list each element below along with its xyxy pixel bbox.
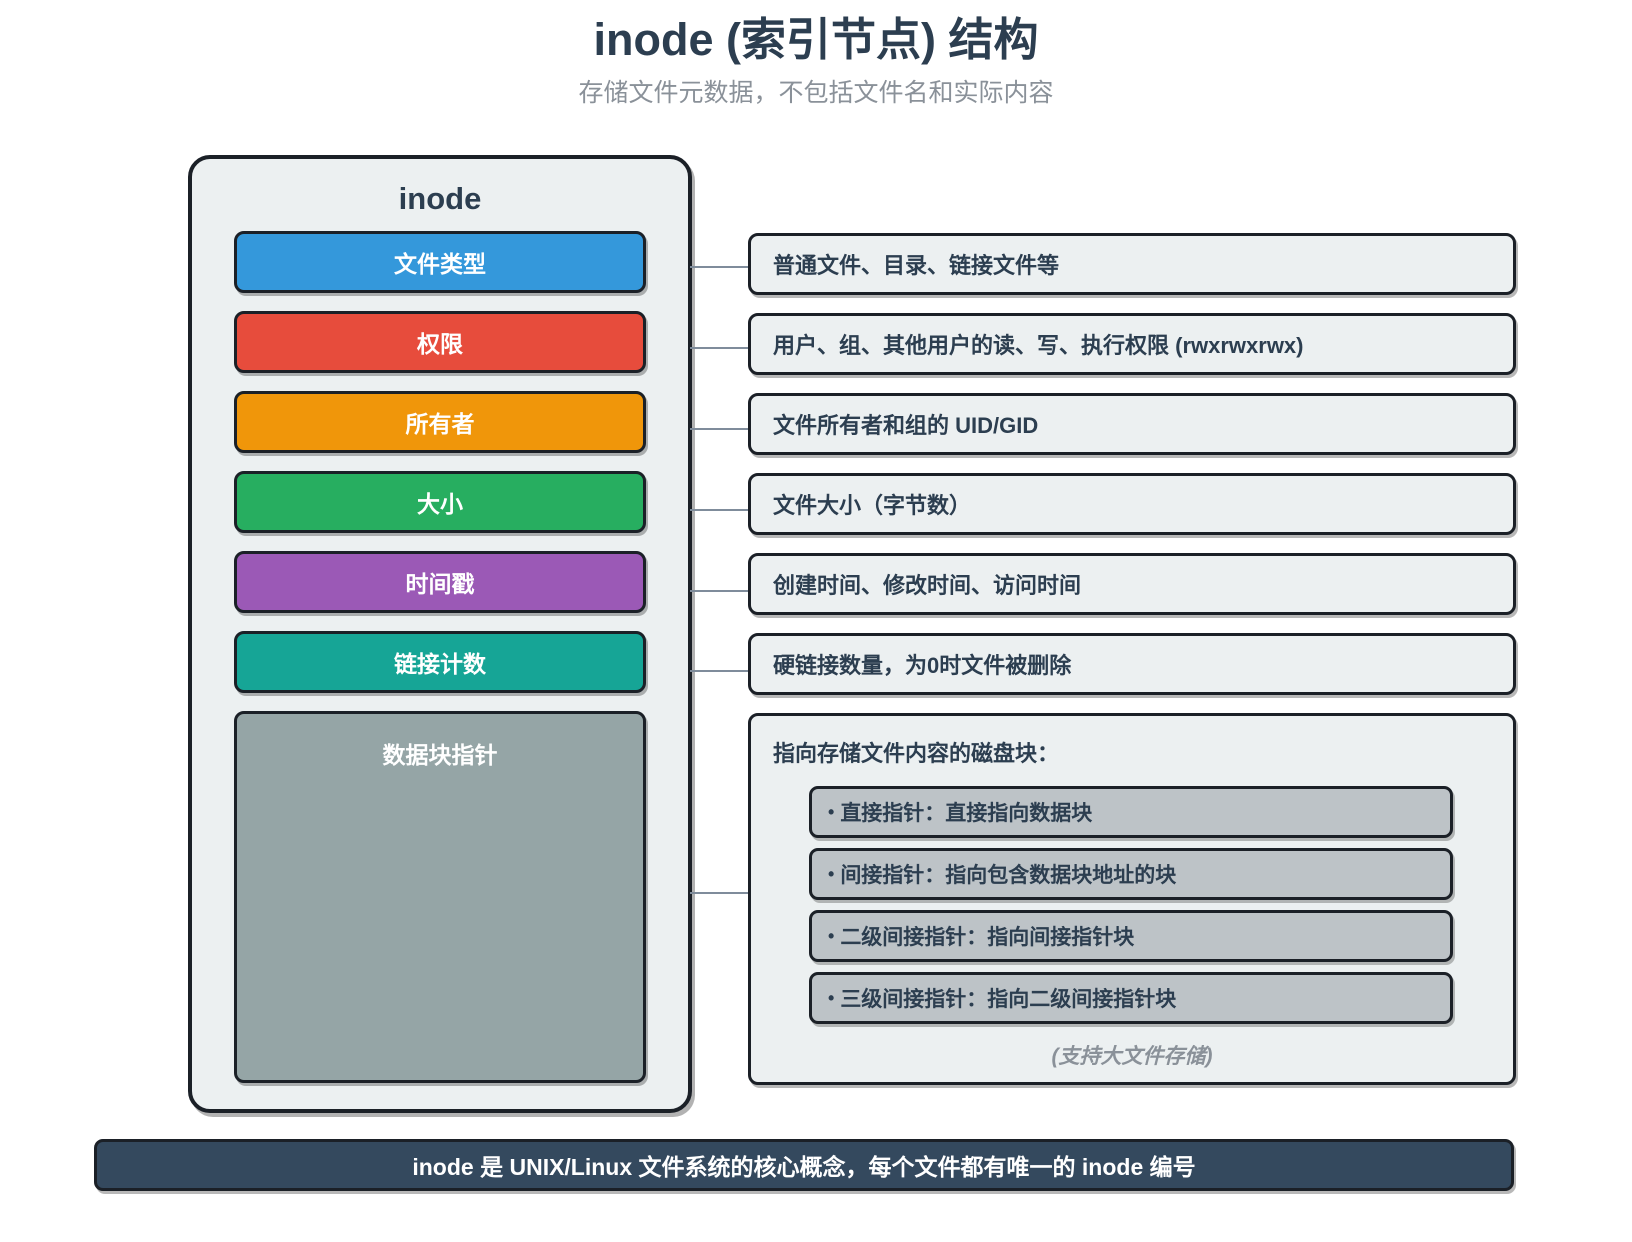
description-box-link-count: 硬链接数量，为0时文件被删除 bbox=[748, 633, 1516, 695]
inode-field-label: 时间戳 bbox=[406, 565, 475, 599]
block-pointer-item-direct[interactable]: • 直接指针：直接指向数据块 bbox=[809, 786, 1453, 838]
page-subtitle: 存储文件元数据，不包括文件名和实际内容 bbox=[0, 66, 1632, 108]
inode-container-title: inode bbox=[192, 181, 688, 217]
inode-field-label: 链接计数 bbox=[394, 645, 486, 679]
block-pointer-item-triple-indirect[interactable]: • 三级间接指针：指向二级间接指针块 bbox=[809, 972, 1453, 1024]
block-pointer-item-label: 三级间接指针：指向二级间接指针块 bbox=[840, 983, 1176, 1013]
description-text: 硬链接数量，为0时文件被删除 bbox=[773, 648, 1071, 680]
bullet-icon: • bbox=[828, 803, 834, 821]
block-pointer-item-indirect[interactable]: • 间接指针：指向包含数据块地址的块 bbox=[809, 848, 1453, 900]
inode-field-size[interactable]: 大小 bbox=[234, 471, 646, 533]
block-pointer-note: (支持大文件存储) bbox=[773, 1040, 1491, 1070]
inode-field-label: 所有者 bbox=[406, 405, 475, 439]
description-box-size: 文件大小（字节数） bbox=[748, 473, 1516, 535]
inode-field-link-count[interactable]: 链接计数 bbox=[234, 631, 646, 693]
bullet-icon: • bbox=[828, 989, 834, 1007]
connector-line-link-count bbox=[690, 670, 750, 672]
inode-field-label: 数据块指针 bbox=[383, 736, 498, 770]
description-box-owner: 文件所有者和组的 UID/GID bbox=[748, 393, 1516, 455]
connector-line-permissions bbox=[690, 347, 750, 349]
inode-field-owner[interactable]: 所有者 bbox=[234, 391, 646, 453]
inode-field-permissions[interactable]: 权限 bbox=[234, 311, 646, 373]
connector-line-block-pointers bbox=[690, 892, 750, 894]
inode-field-block-pointers[interactable]: 数据块指针 bbox=[234, 711, 646, 1083]
inode-field-label: 大小 bbox=[417, 485, 463, 519]
page-title: inode (索引节点) 结构 bbox=[0, 0, 1632, 66]
diagram-header: inode (索引节点) 结构 存储文件元数据，不包括文件名和实际内容 bbox=[0, 0, 1632, 108]
footer-banner-text: inode 是 UNIX/Linux 文件系统的核心概念，每个文件都有唯一的 i… bbox=[412, 1148, 1195, 1182]
connector-line-owner bbox=[690, 428, 750, 430]
inode-field-label: 文件类型 bbox=[394, 245, 486, 279]
connector-line-size bbox=[690, 509, 750, 511]
description-box-file-type: 普通文件、目录、链接文件等 bbox=[748, 233, 1516, 295]
inode-field-list: 文件类型 权限 所有者 大小 时间戳 链接计数 数据块指针 bbox=[192, 231, 688, 1083]
description-column: 普通文件、目录、链接文件等 用户、组、其他用户的读、写、执行权限 (rwxrwx… bbox=[748, 233, 1516, 1085]
inode-field-file-type[interactable]: 文件类型 bbox=[234, 231, 646, 293]
footer-banner: inode 是 UNIX/Linux 文件系统的核心概念，每个文件都有唯一的 i… bbox=[94, 1139, 1514, 1191]
inode-field-label: 权限 bbox=[417, 325, 463, 359]
description-text: 文件大小（字节数） bbox=[773, 488, 971, 520]
connector-line-timestamps bbox=[690, 590, 750, 592]
description-box-timestamps: 创建时间、修改时间、访问时间 bbox=[748, 553, 1516, 615]
bullet-icon: • bbox=[828, 865, 834, 883]
inode-field-timestamps[interactable]: 时间戳 bbox=[234, 551, 646, 613]
inode-container: inode 文件类型 权限 所有者 大小 时间戳 链接计数 数据块指针 bbox=[188, 155, 692, 1113]
block-pointer-item-label: 间接指针：指向包含数据块地址的块 bbox=[840, 859, 1176, 889]
block-pointer-item-label: 直接指针：直接指向数据块 bbox=[840, 797, 1092, 827]
description-text: 普通文件、目录、链接文件等 bbox=[773, 248, 1059, 280]
description-text: 用户、组、其他用户的读、写、执行权限 (rwxrwxrwx) bbox=[773, 328, 1304, 360]
block-pointer-item-double-indirect[interactable]: • 二级间接指针：指向间接指针块 bbox=[809, 910, 1453, 962]
block-pointer-item-label: 二级间接指针：指向间接指针块 bbox=[840, 921, 1134, 951]
block-pointer-list: • 直接指针：直接指向数据块 • 间接指针：指向包含数据块地址的块 • 二级间接… bbox=[773, 786, 1491, 1024]
description-box-block-pointers: 指向存储文件内容的磁盘块： • 直接指针：直接指向数据块 • 间接指针：指向包含… bbox=[748, 713, 1516, 1085]
bullet-icon: • bbox=[828, 927, 834, 945]
block-pointer-heading: 指向存储文件内容的磁盘块： bbox=[773, 736, 1491, 768]
description-box-permissions: 用户、组、其他用户的读、写、执行权限 (rwxrwxrwx) bbox=[748, 313, 1516, 375]
connector-line-file-type bbox=[690, 266, 750, 268]
description-text: 创建时间、修改时间、访问时间 bbox=[773, 568, 1081, 600]
description-text: 文件所有者和组的 UID/GID bbox=[773, 408, 1038, 440]
